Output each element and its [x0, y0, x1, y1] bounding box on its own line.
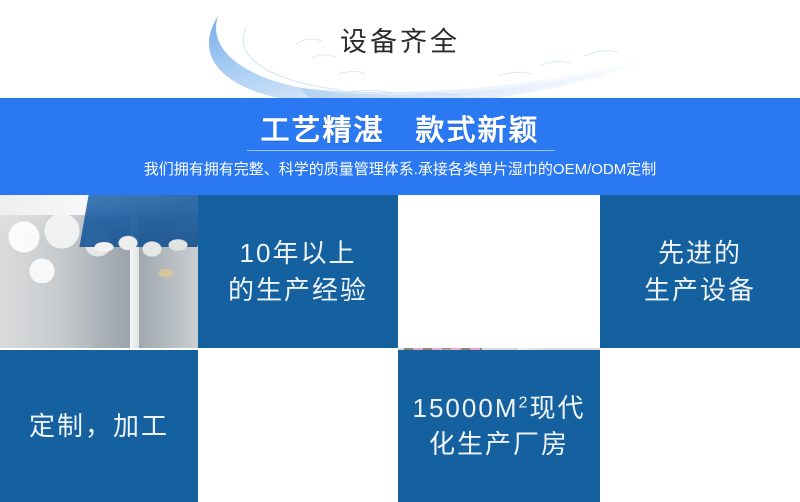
feature-grid: 10年以上 的生产经验 先进的 生产设备 定制，加工 150: [0, 195, 800, 502]
years-experience-text: 10年以上 的生产经验: [228, 235, 368, 308]
banner-divider: [247, 150, 555, 151]
years-experience-panel: 10年以上 的生产经验: [198, 195, 398, 348]
promo-page: 设备齐全 工艺精湛 款式新颖 我们拥有拥有完整、科学的质量管理体系.承接各类单片…: [0, 0, 800, 502]
production-line-photo: [0, 195, 198, 348]
banner-heading: 工艺精湛 款式新颖: [0, 107, 800, 149]
banner-subtitle: 我们拥有拥有完整、科学的质量管理体系.承接各类单片湿巾的OEM/ODM定制: [0, 158, 800, 179]
square-meter-superscript: 2: [518, 393, 529, 411]
factory-area-text: 15000M2现代 化生产厂房: [413, 390, 586, 463]
factory-area-suffix: 现代: [529, 393, 585, 423]
feature-banner: 工艺精湛 款式新颖 我们拥有拥有完整、科学的质量管理体系.承接各类单片湿巾的OE…: [0, 98, 800, 195]
factory-area-line-1: 15000M2现代: [413, 390, 586, 426]
factory-area-line-2: 化生产厂房: [413, 426, 586, 462]
page-header: 设备齐全: [0, 0, 800, 98]
advanced-equipment-panel: 先进的 生产设备: [600, 195, 800, 348]
advanced-equipment-text: 先进的 生产设备: [644, 235, 756, 308]
customization-panel: 定制，加工: [0, 350, 198, 502]
factory-area-panel: 15000M2现代 化生产厂房: [398, 350, 600, 502]
factory-area-number: 15000M: [413, 393, 519, 423]
page-title: 设备齐全: [0, 20, 800, 59]
customization-text: 定制，加工: [29, 408, 169, 444]
